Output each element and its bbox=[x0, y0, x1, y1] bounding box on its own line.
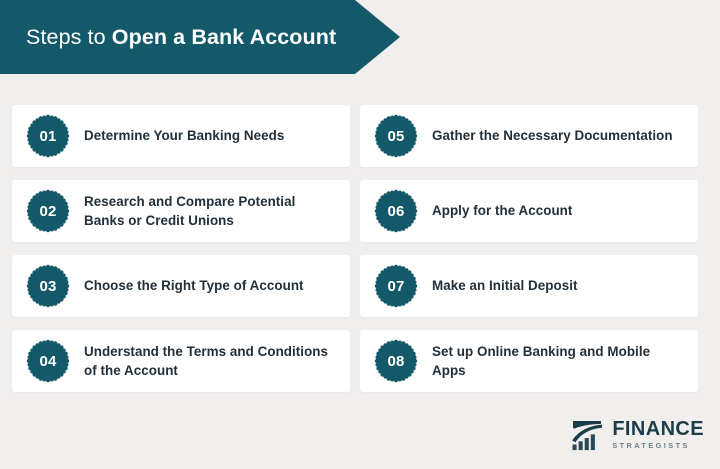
step-number: 06 bbox=[387, 204, 404, 219]
step-label: Determine Your Banking Needs bbox=[84, 126, 296, 145]
step-number: 01 bbox=[39, 129, 56, 144]
step-number: 08 bbox=[387, 354, 404, 369]
step-number-badge: 04 bbox=[26, 339, 70, 383]
step-number-badge: 05 bbox=[374, 114, 418, 158]
step-card: 01 Determine Your Banking Needs bbox=[12, 105, 350, 167]
step-label: Set up Online Banking and Mobile Apps bbox=[432, 342, 698, 380]
steps-container: 01 Determine Your Banking Needs bbox=[12, 105, 708, 405]
logo-primary-text: FINANCE bbox=[612, 419, 704, 439]
step-card: 03 Choose the Right Type of Account bbox=[12, 255, 350, 317]
header-banner: Steps to Open a Bank Account bbox=[0, 0, 400, 74]
step-number: 04 bbox=[39, 354, 56, 369]
step-number: 07 bbox=[387, 279, 404, 294]
step-label: Research and Compare Potential Banks or … bbox=[84, 192, 350, 230]
page-title-lead: Steps to bbox=[26, 25, 112, 49]
brand-logo: FINANCE STRATEGISTS bbox=[571, 418, 704, 451]
step-number: 05 bbox=[387, 129, 404, 144]
step-card: 04 Understand the Terms and Conditions o… bbox=[12, 330, 350, 392]
step-label: Gather the Necessary Documentation bbox=[432, 126, 685, 145]
step-number-badge: 02 bbox=[26, 189, 70, 233]
page-title: Steps to Open a Bank Account bbox=[0, 25, 336, 50]
steps-column-right: 05 Gather the Necessary Documentation bbox=[360, 105, 698, 405]
step-label: Choose the Right Type of Account bbox=[84, 276, 316, 295]
step-number-badge: 07 bbox=[374, 264, 418, 308]
step-label: Apply for the Account bbox=[432, 201, 584, 220]
step-card: 08 Set up Online Banking and Mobile Apps bbox=[360, 330, 698, 392]
step-number-badge: 03 bbox=[26, 264, 70, 308]
step-number: 02 bbox=[39, 204, 56, 219]
step-number-badge: 08 bbox=[374, 339, 418, 383]
logo-wordmark: FINANCE STRATEGISTS bbox=[612, 419, 704, 449]
step-label: Make an Initial Deposit bbox=[432, 276, 590, 295]
step-number: 03 bbox=[39, 279, 56, 294]
step-card: 06 Apply for the Account bbox=[360, 180, 698, 242]
steps-column-left: 01 Determine Your Banking Needs bbox=[12, 105, 350, 405]
step-card: 07 Make an Initial Deposit bbox=[360, 255, 698, 317]
logo-secondary-text: STRATEGISTS bbox=[612, 442, 704, 449]
page-title-emphasis: Open a Bank Account bbox=[112, 25, 337, 49]
step-label: Understand the Terms and Conditions of t… bbox=[84, 342, 350, 380]
step-card: 02 Research and Compare Potential Banks … bbox=[12, 180, 350, 242]
step-number-badge: 01 bbox=[26, 114, 70, 158]
finance-strategists-logo-icon bbox=[571, 418, 607, 451]
step-card: 05 Gather the Necessary Documentation bbox=[360, 105, 698, 167]
step-number-badge: 06 bbox=[374, 189, 418, 233]
